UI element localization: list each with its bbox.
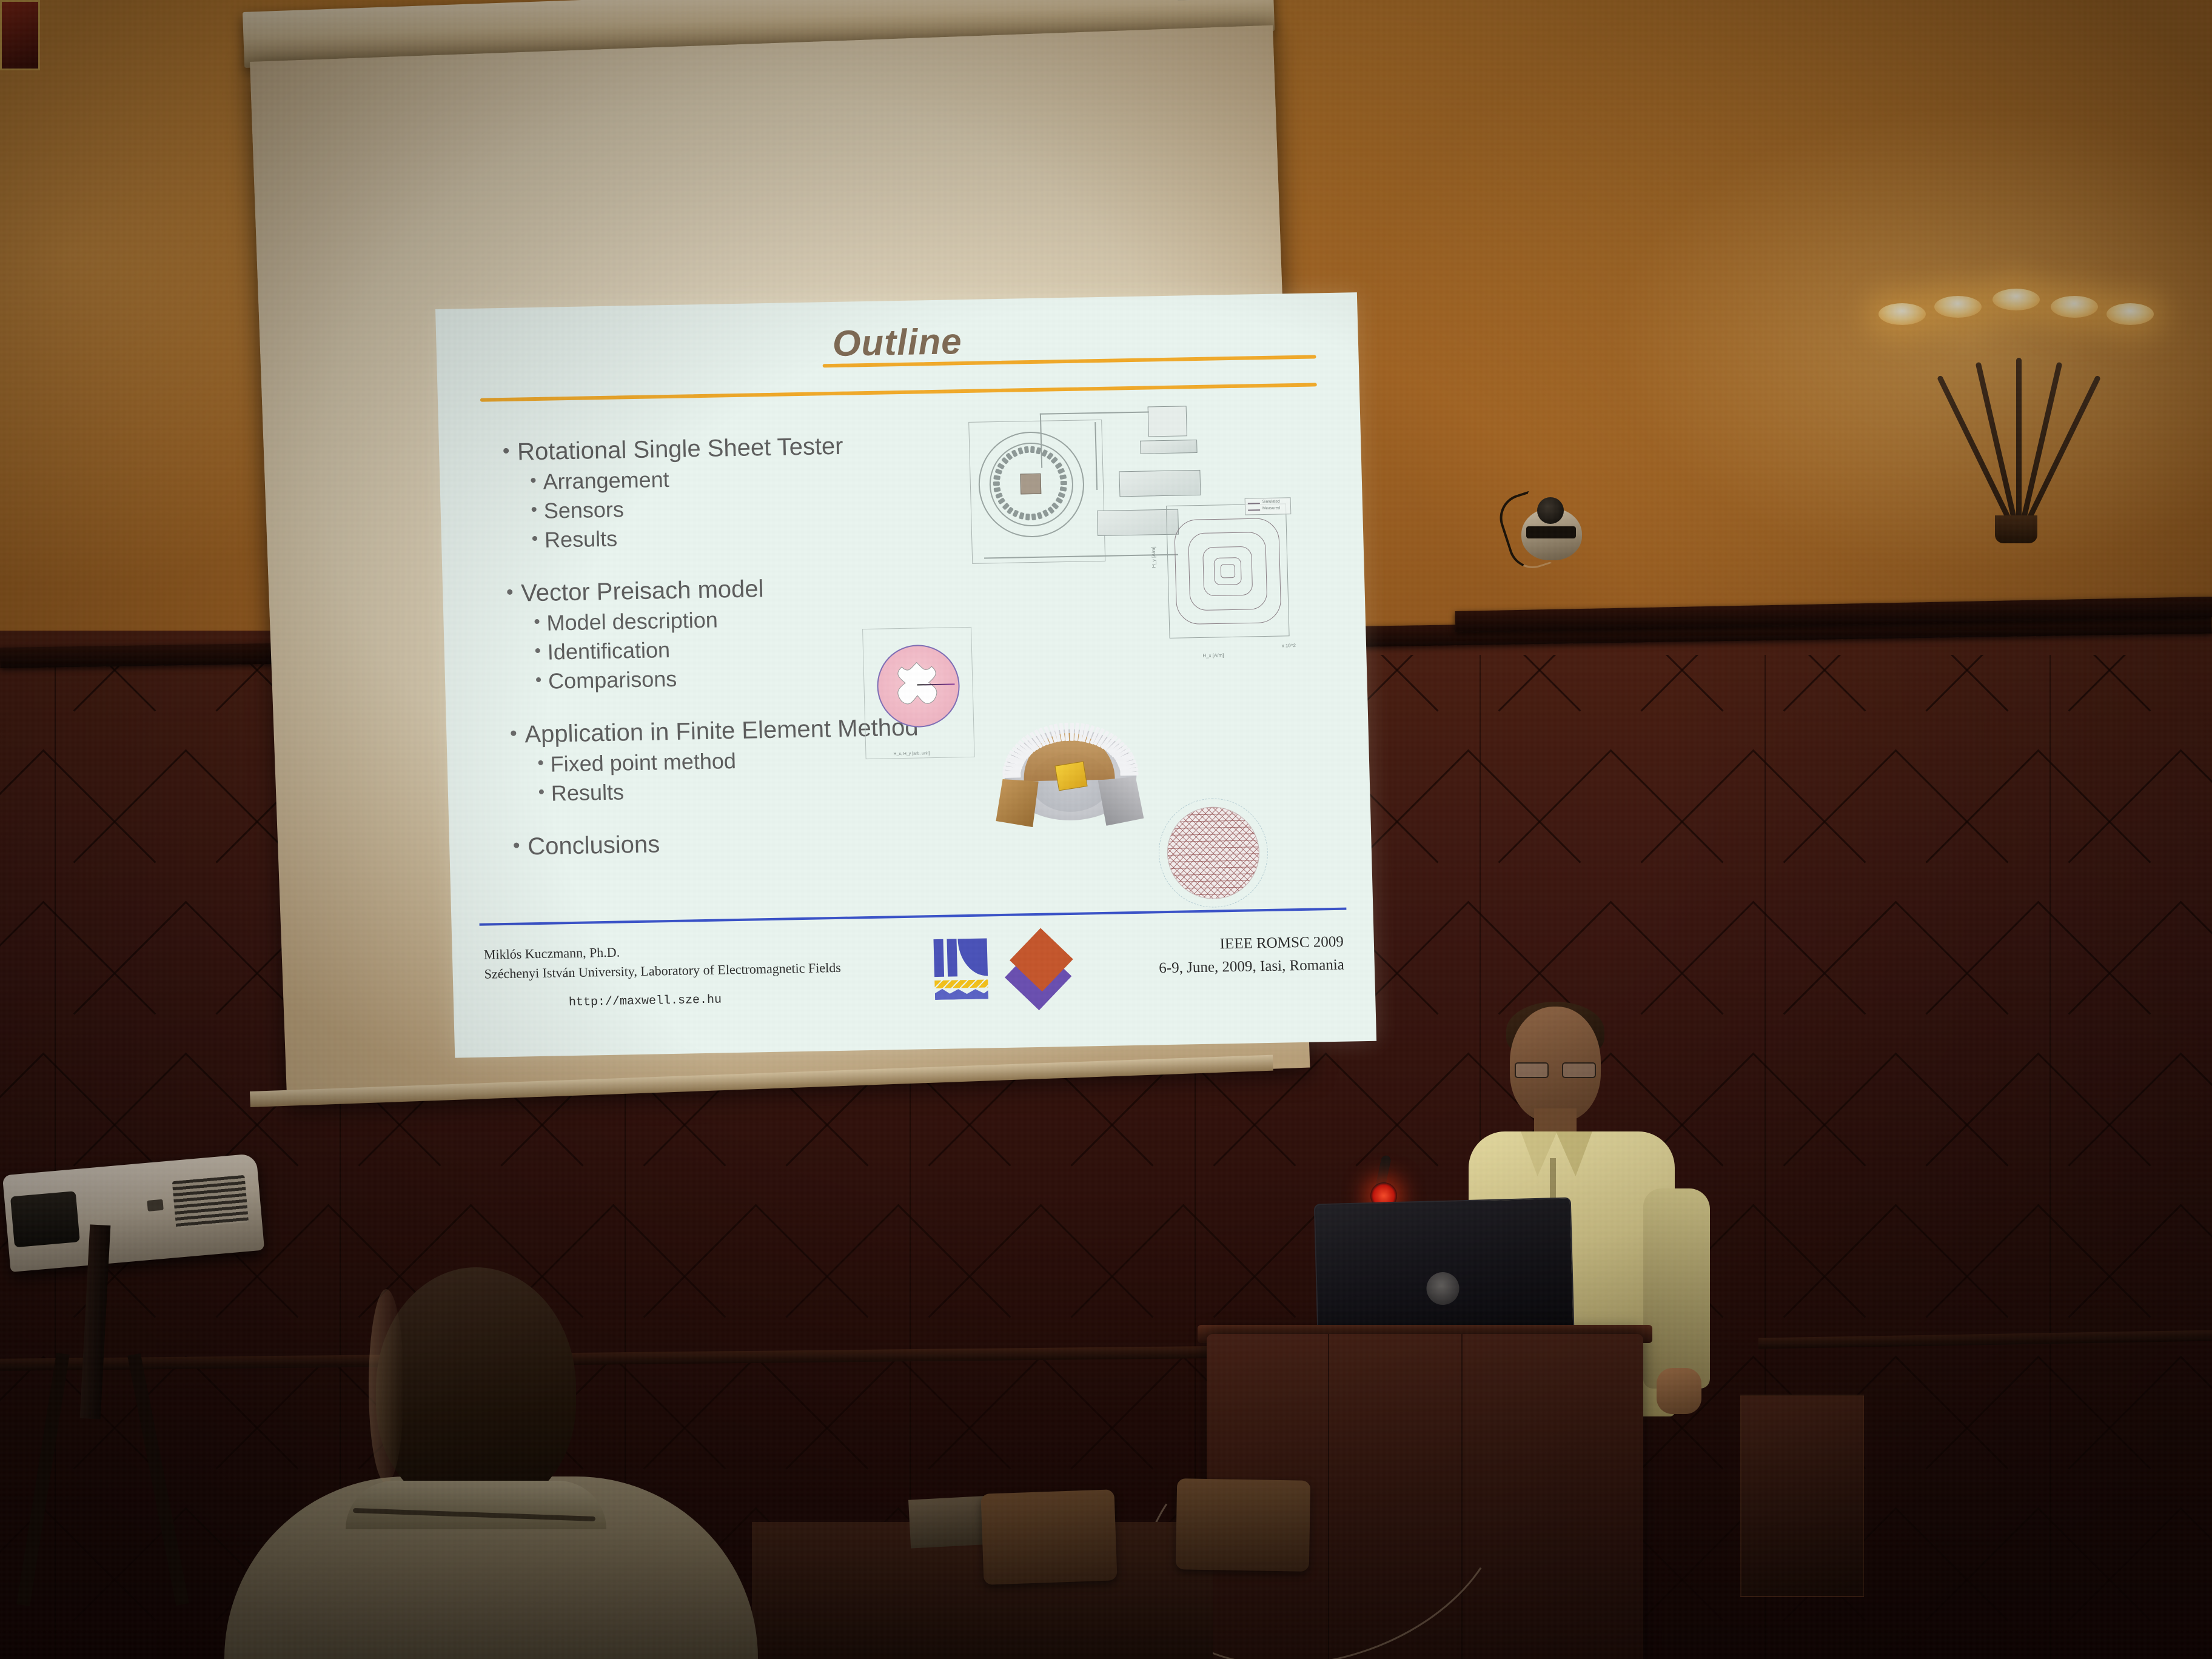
camera-lens-icon bbox=[1537, 497, 1564, 524]
bullet-subitem-label: Results bbox=[551, 779, 624, 805]
bullet-dot-icon bbox=[535, 648, 540, 653]
keyboard-icon bbox=[1140, 440, 1198, 454]
romsc-diamond-logo bbox=[1004, 933, 1076, 1006]
bullet-subitem: Results bbox=[538, 773, 973, 806]
sconce-lamp bbox=[1934, 296, 1982, 318]
bullet-dot-icon bbox=[532, 536, 537, 541]
footer-left: Miklós Kuczmann, Ph.D. Széchenyi István … bbox=[483, 939, 841, 984]
right-wall-panel bbox=[1740, 1395, 1864, 1597]
stator-tooth bbox=[1061, 481, 1067, 485]
presenter-arm bbox=[1643, 1188, 1710, 1389]
preisach-xlabel: H_x, H_y [arb. unit] bbox=[893, 751, 930, 756]
stator-tooth bbox=[993, 481, 1000, 486]
audience-head bbox=[376, 1267, 576, 1510]
stator-slot bbox=[1070, 723, 1073, 741]
loci-legend: SimulatedMeasured bbox=[1245, 497, 1292, 515]
szechenyi-university-logo bbox=[931, 937, 991, 1001]
sconce-lamp bbox=[1992, 289, 2040, 310]
bullet-heading-label: Vector Preisach model bbox=[521, 575, 764, 606]
stator-tooth bbox=[1031, 513, 1036, 520]
footer-rule bbox=[480, 908, 1347, 926]
legend-line bbox=[1248, 503, 1260, 504]
loci-xlabel: H_x [A/m] bbox=[1202, 652, 1224, 659]
safety-sign bbox=[1176, 0, 1258, 1]
bullet-dot-icon bbox=[503, 448, 509, 454]
mesh-disc bbox=[1166, 806, 1261, 900]
bullet-dot-icon bbox=[534, 619, 539, 624]
loci-axes bbox=[1166, 503, 1290, 638]
footer-right: IEEE ROMSC 2009 6-9, June, 2009, Iasi, R… bbox=[1158, 931, 1344, 980]
projected-slide: Outline Rotational Single Sheet TesterAr… bbox=[435, 292, 1376, 1057]
bullet-subitem: Sensors bbox=[531, 491, 966, 524]
projector-indicator bbox=[147, 1199, 163, 1212]
pole-right bbox=[1098, 777, 1144, 826]
audience-member bbox=[224, 1267, 758, 1659]
pole-left bbox=[995, 779, 1040, 828]
stator-tooth bbox=[1030, 446, 1035, 453]
presenter-glasses-icon bbox=[1515, 1062, 1596, 1076]
bullet-subitem-label: Model description bbox=[546, 608, 718, 635]
bullet-subitem-label: Fixed point method bbox=[550, 748, 736, 777]
bullet-group: Conclusions bbox=[514, 825, 975, 861]
bullet-group: Rotational Single Sheet TesterArrangemen… bbox=[503, 431, 967, 554]
bullet-dot-icon bbox=[539, 789, 544, 794]
loci-exponent: x 10^2 bbox=[1282, 643, 1296, 648]
projector-lens-icon bbox=[10, 1191, 80, 1247]
bullet-subitem-label: Arrangement bbox=[543, 467, 669, 494]
specimen-sample bbox=[1054, 761, 1087, 791]
audience-collar bbox=[346, 1481, 606, 1529]
footer-conference: IEEE ROMSC 2009 bbox=[1158, 931, 1344, 957]
bullet-heading-label: Rotational Single Sheet Tester bbox=[517, 433, 843, 466]
sconce-arm bbox=[2016, 362, 2062, 540]
audience-rim-light bbox=[369, 1289, 404, 1483]
bullet-subitem-label: Sensors bbox=[543, 497, 624, 523]
bullet-subitem-label: Comparisons bbox=[548, 666, 677, 694]
sample-square bbox=[1020, 474, 1041, 495]
title-rule-bottom bbox=[480, 383, 1317, 401]
chair-back bbox=[1176, 1478, 1311, 1572]
instrument-1 bbox=[1119, 470, 1201, 497]
bullet-heading: Rotational Single Sheet Tester bbox=[503, 431, 965, 466]
bullet-subitem: Results bbox=[532, 520, 967, 553]
slide-footer: Miklós Kuczmann, Ph.D. Széchenyi István … bbox=[452, 923, 1376, 1049]
wall-sconce bbox=[1874, 285, 2159, 540]
wire-top bbox=[1040, 411, 1149, 414]
presenter-hand bbox=[1657, 1368, 1701, 1414]
wall-picture-frame bbox=[0, 0, 40, 70]
bullet-subitem-label: Results bbox=[544, 526, 617, 552]
bullet-heading-label: Conclusions bbox=[528, 831, 660, 860]
laptop-lid bbox=[1314, 1197, 1575, 1346]
bullet-heading: Vector Preisach model bbox=[507, 572, 968, 608]
chair-back bbox=[980, 1489, 1117, 1585]
sconce-lamp bbox=[1879, 303, 1926, 325]
rsst-3d-render bbox=[992, 721, 1150, 854]
stator-tooth bbox=[1024, 446, 1029, 454]
sconce-base bbox=[1995, 515, 2037, 543]
bullet-heading: Conclusions bbox=[514, 825, 975, 861]
bullet-dot-icon bbox=[507, 589, 512, 595]
camera-slot bbox=[1526, 526, 1576, 538]
footer-logos bbox=[931, 933, 1102, 1008]
finite-element-mesh bbox=[1155, 797, 1273, 914]
monitor-icon bbox=[1148, 406, 1187, 437]
bullet-dot-icon bbox=[538, 760, 543, 765]
footer-conference-date: 6-9, June, 2009, Iasi, Romania bbox=[1159, 953, 1344, 979]
loci-ylabel: H_y [A/m] bbox=[1151, 546, 1157, 568]
legend-label: Measured bbox=[1262, 506, 1280, 511]
bullet-subitem-label: Identification bbox=[547, 637, 670, 665]
footer-url: http://maxwell.sze.hu bbox=[569, 993, 722, 1010]
sconce-lamp bbox=[2051, 296, 2098, 318]
stator-slot bbox=[1120, 772, 1138, 776]
bullet-dot-icon bbox=[536, 677, 541, 682]
stator-tooth bbox=[993, 475, 1000, 480]
bullet-heading-label: Application in Finite Element Method bbox=[525, 714, 919, 748]
field-loci-plot: SimulatedMeasured H_y [A/m] H_x [A/m] x … bbox=[1142, 494, 1298, 663]
stator-tooth bbox=[1025, 514, 1030, 520]
sconce-lamp bbox=[2106, 303, 2154, 325]
bullet-subitem: Arrangement bbox=[531, 461, 965, 495]
loci-loop bbox=[1221, 564, 1235, 578]
legend-label: Simulated bbox=[1262, 500, 1280, 504]
bullet-dot-icon bbox=[531, 478, 535, 483]
preisach-distribution-plot: H_x, H_y [arb. unit] bbox=[862, 627, 975, 759]
sconce-arm bbox=[1976, 362, 2022, 540]
bullet-dot-icon bbox=[532, 507, 537, 512]
presentation-photo: Outline Rotational Single Sheet TesterAr… bbox=[0, 0, 2212, 1659]
chair-row bbox=[837, 1455, 1382, 1659]
wall-camera bbox=[1513, 492, 1592, 571]
bullet-dot-icon bbox=[514, 843, 519, 848]
projector-vent bbox=[172, 1175, 249, 1228]
bullet-dot-icon bbox=[511, 731, 516, 736]
legend-line bbox=[1248, 509, 1260, 511]
sconce-arm bbox=[2016, 358, 2022, 540]
